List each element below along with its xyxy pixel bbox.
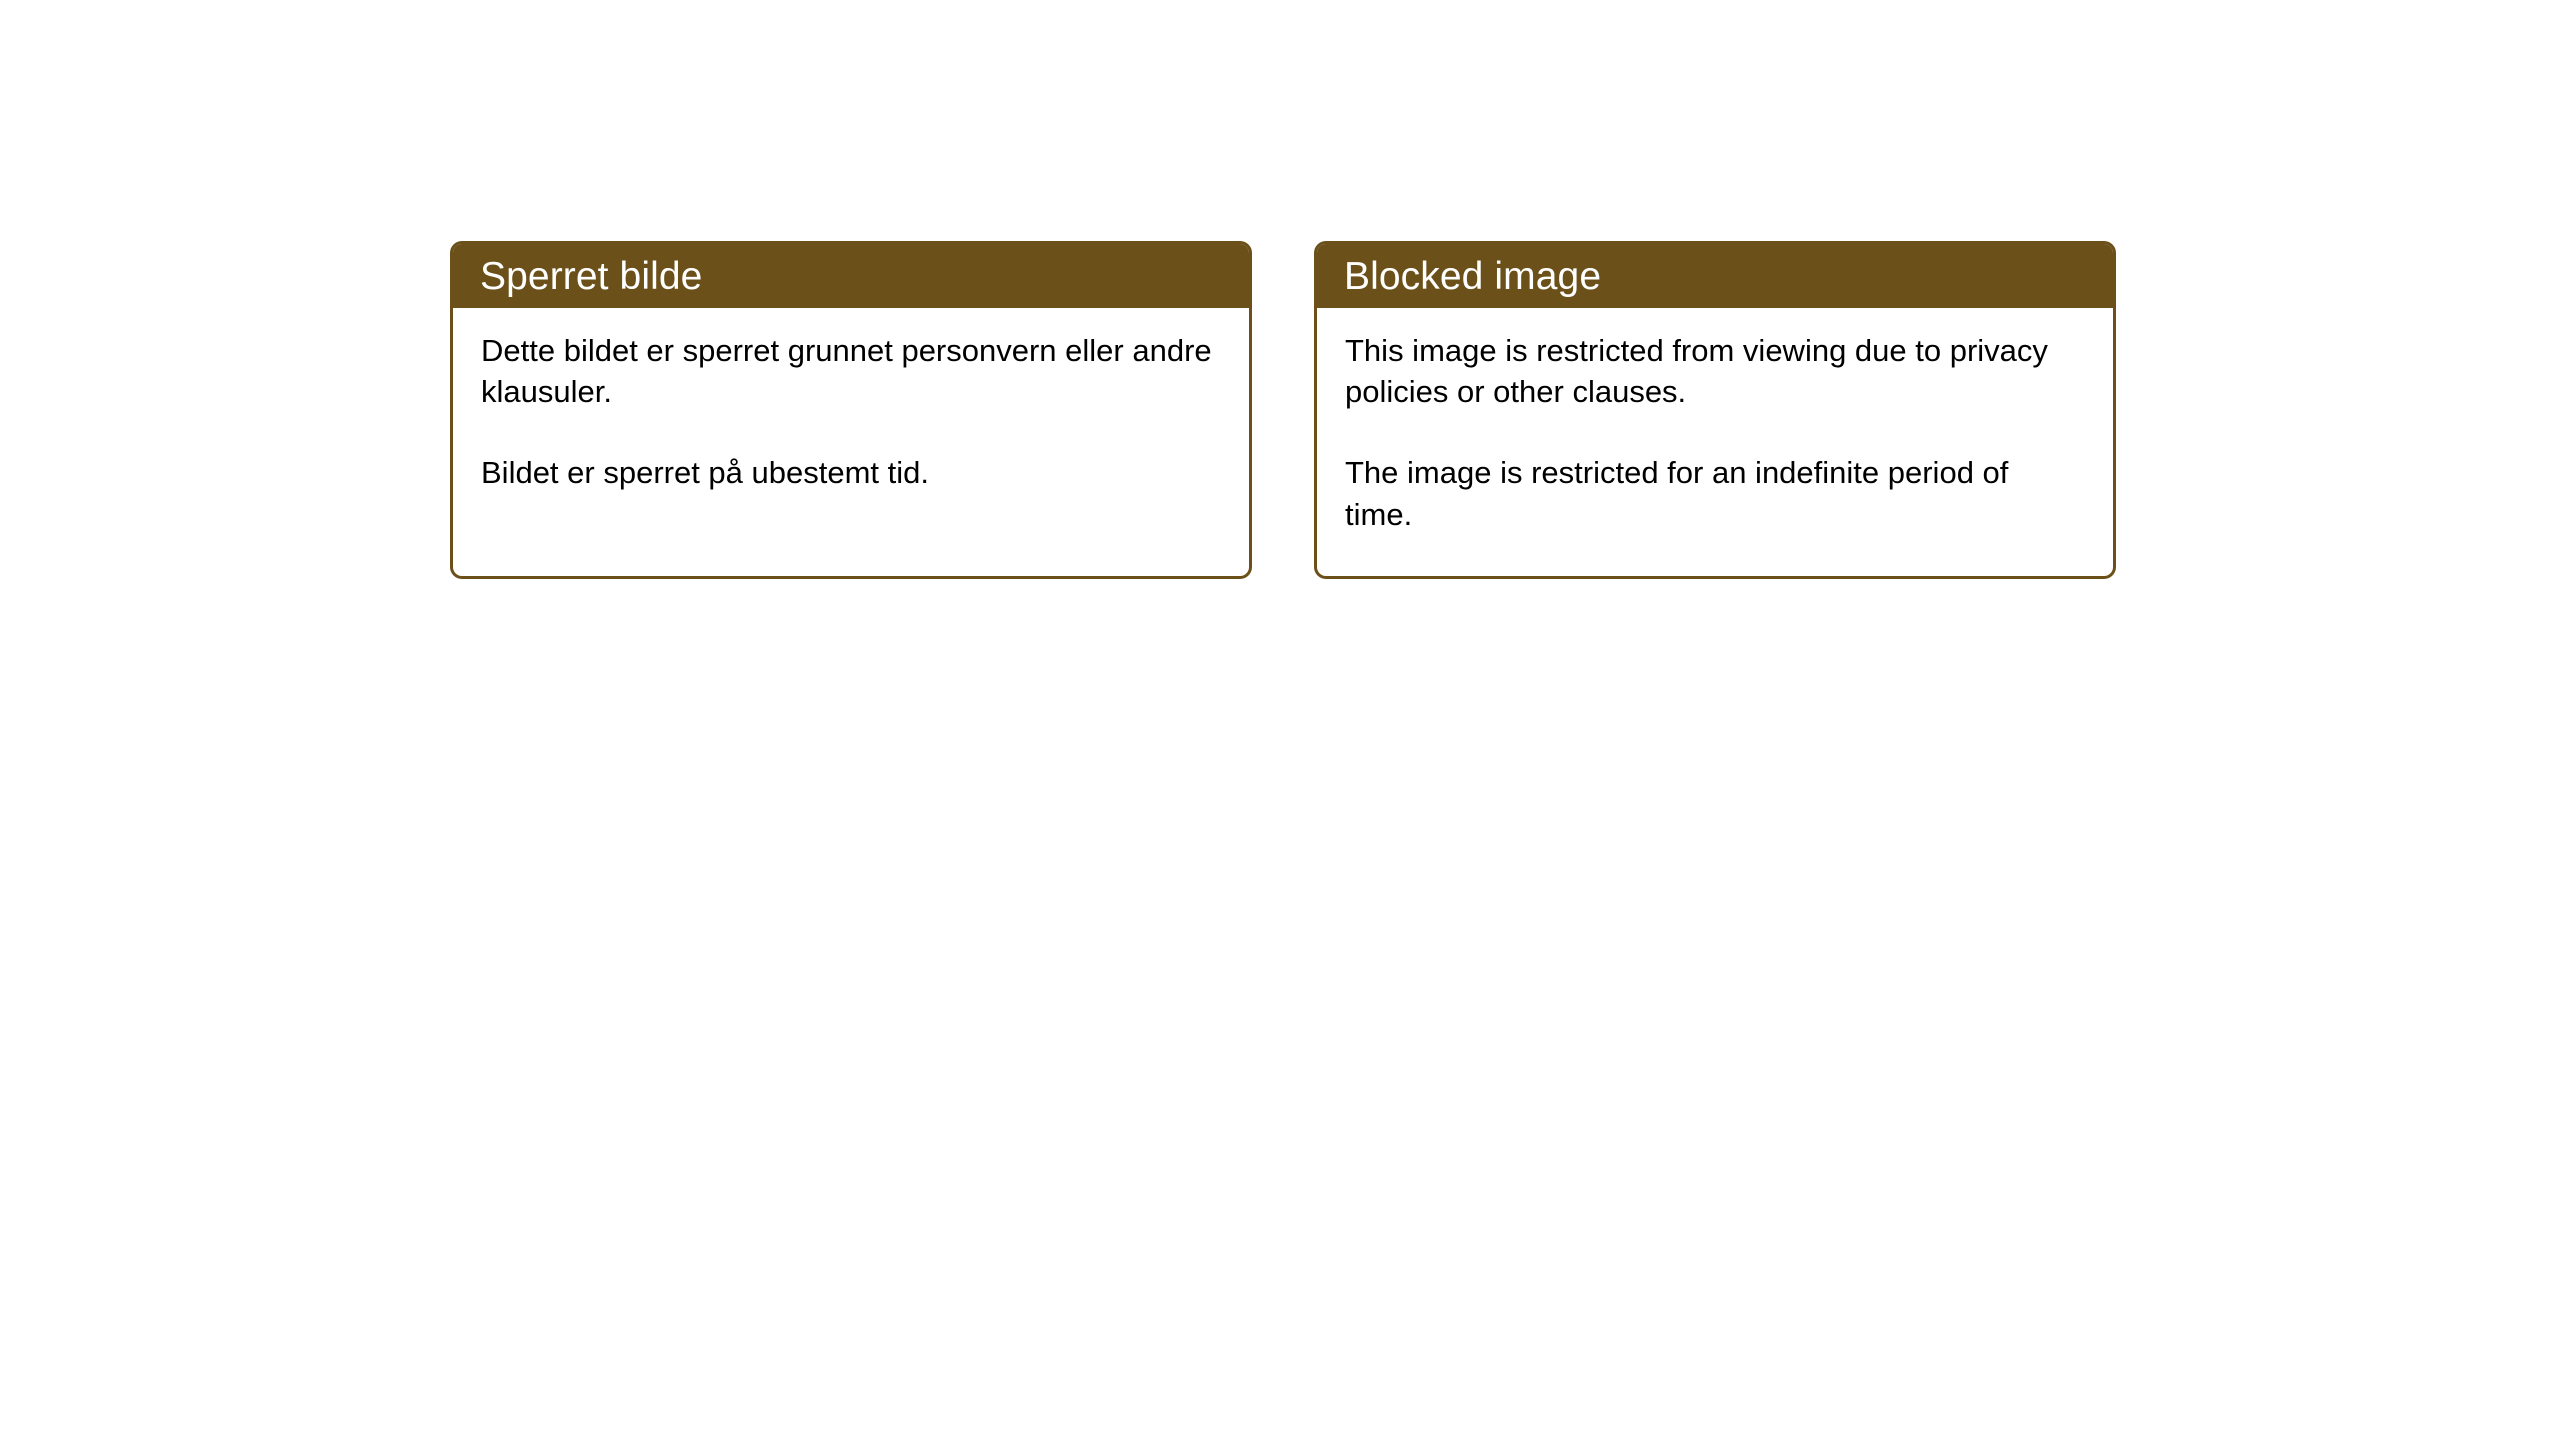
card-title-english: Blocked image (1317, 244, 2113, 308)
card-body-norwegian: Dette bildet er sperret grunnet personve… (453, 308, 1249, 576)
blocked-image-notices: Sperret bilde Dette bildet er sperret gr… (450, 241, 2116, 579)
card-paragraph-duration-norwegian: Bildet er sperret på ubestemt tid. (481, 452, 1219, 493)
card-title-norwegian: Sperret bilde (453, 244, 1249, 308)
blocked-image-card-english: Blocked image This image is restricted f… (1314, 241, 2116, 579)
card-body-english: This image is restricted from viewing du… (1317, 308, 2113, 576)
blocked-image-card-norwegian: Sperret bilde Dette bildet er sperret gr… (450, 241, 1252, 579)
card-paragraph-privacy-norwegian: Dette bildet er sperret grunnet personve… (481, 330, 1219, 412)
card-paragraph-privacy-english: This image is restricted from viewing du… (1345, 330, 2083, 412)
card-paragraph-duration-english: The image is restricted for an indefinit… (1345, 452, 2083, 534)
